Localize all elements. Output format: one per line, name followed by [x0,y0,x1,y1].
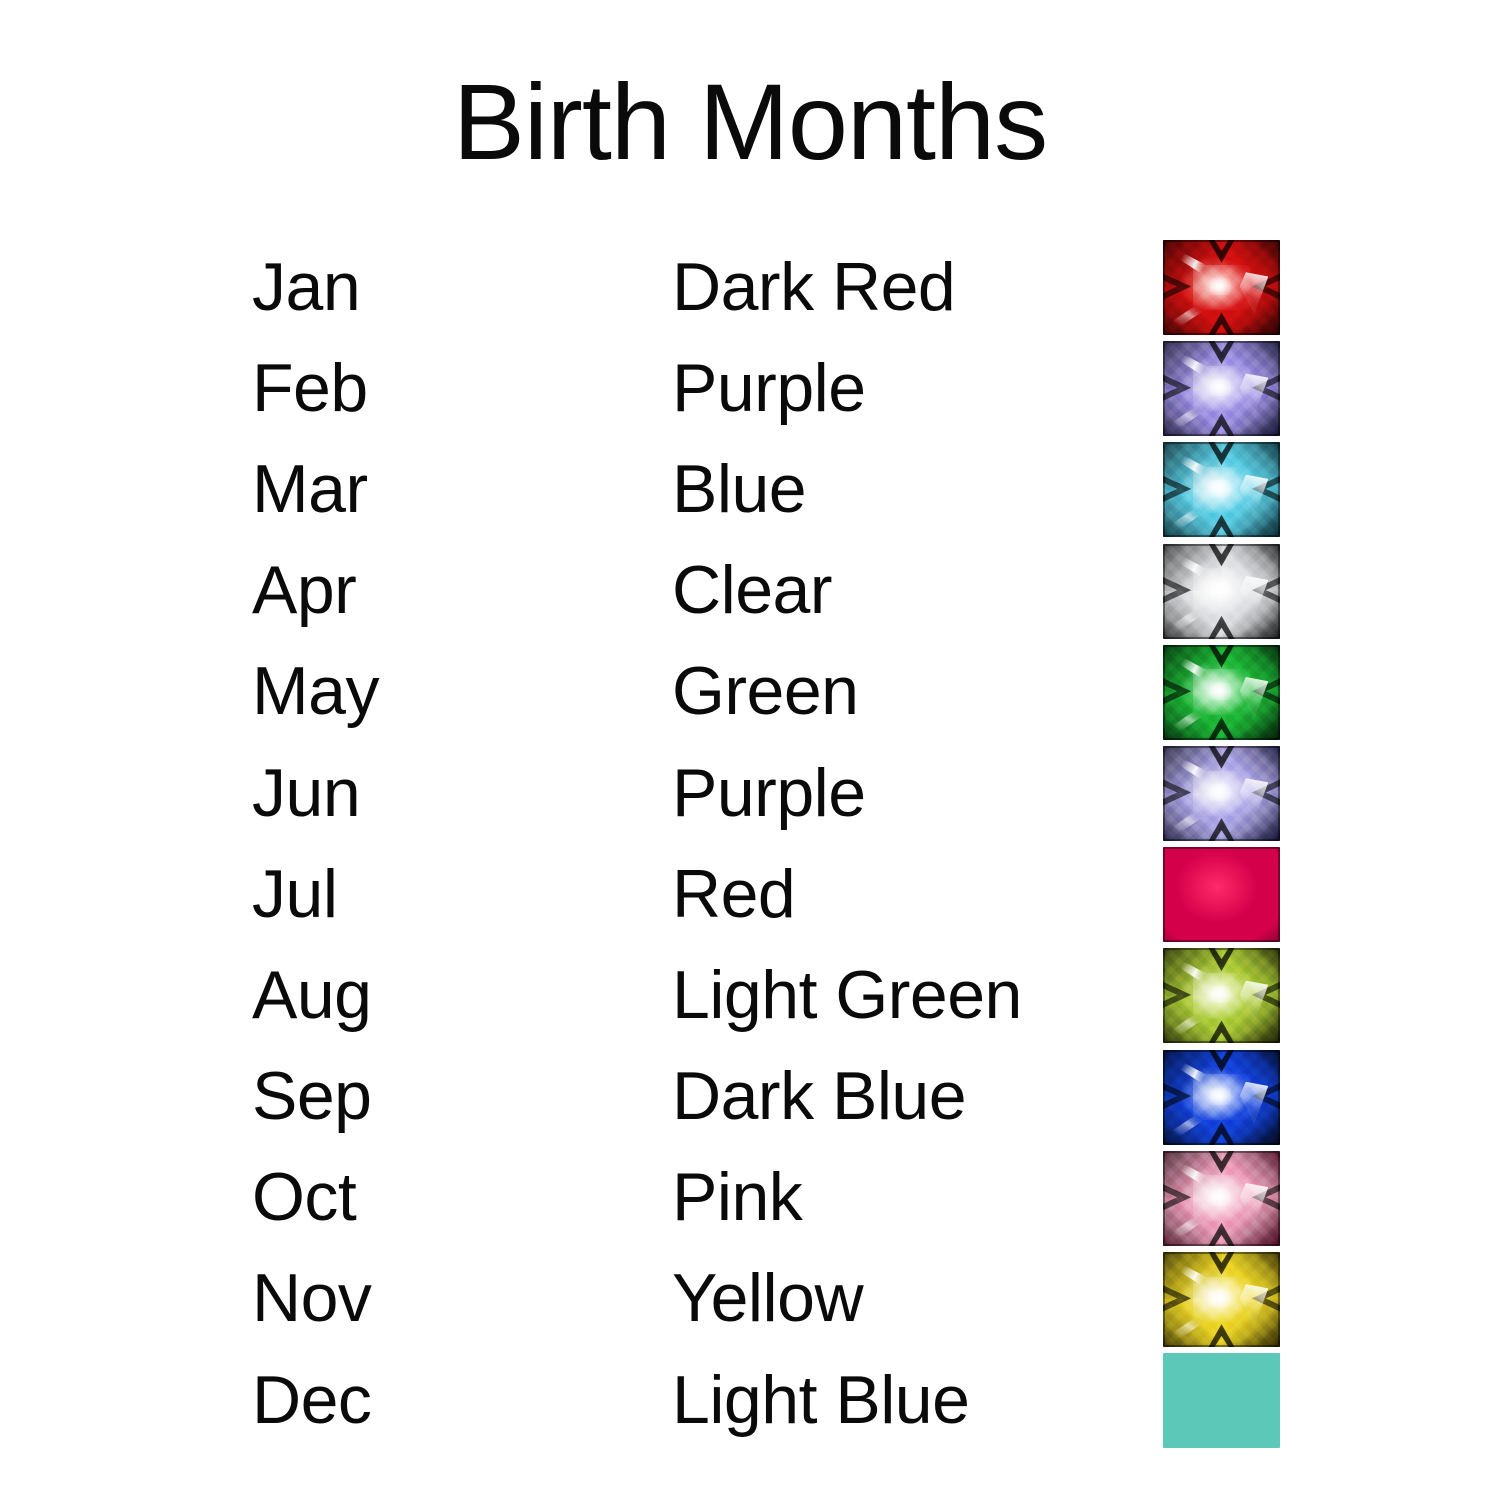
color-label: Dark Red [672,236,955,337]
color-label: Yellow [672,1248,863,1349]
peridot-gem [1163,948,1280,1043]
birth-months-table: JanDark RedFebPurpleMarBlueAprClearMayGr… [0,236,1500,1450]
table-row: SepDark Blue [0,1046,1500,1147]
gemstone-swatch [1163,1151,1280,1246]
table-row: AprClear [0,540,1500,641]
month-label: Oct [252,1147,356,1248]
tourmaline-gem [1163,1151,1280,1246]
table-row: OctPink [0,1147,1500,1248]
table-row: DecLight Blue [0,1349,1500,1450]
color-label: Purple [672,742,866,843]
color-label: Purple [672,337,866,438]
birth-months-page: Birth Months JanDark RedFebPurpleMarBlue… [0,0,1500,1500]
gemstone-swatch [1163,341,1280,436]
table-row: FebPurple [0,337,1500,438]
gemstone-swatch [1163,1050,1280,1145]
month-label: Apr [252,540,356,641]
color-label: Light Blue [672,1349,969,1450]
alexandrite-gem [1163,746,1280,841]
gemstone-swatch [1163,645,1280,740]
table-row: JunPurple [0,742,1500,843]
month-label: Jun [252,742,360,843]
amethyst-gem [1163,341,1280,436]
citrine-gem [1163,1252,1280,1347]
gemstone-swatch [1163,1353,1280,1448]
color-label: Clear [672,540,832,641]
gemstone-swatch [1163,442,1280,537]
month-label: Jul [252,843,337,944]
color-label: Light Green [672,944,1022,1045]
diamond-gem [1163,544,1280,639]
garnet-gem [1163,240,1280,335]
gemstone-swatch [1163,847,1280,942]
month-label: Nov [252,1248,371,1349]
month-label: Dec [252,1349,371,1450]
gemstone-swatch [1163,240,1280,335]
table-row: JanDark Red [0,236,1500,337]
table-row: NovYellow [0,1248,1500,1349]
table-row: AugLight Green [0,944,1500,1045]
month-label: Aug [252,944,372,1045]
color-label: Green [672,641,859,742]
table-row: MayGreen [0,641,1500,742]
gemstone-swatch [1163,1252,1280,1347]
month-label: Sep [252,1046,372,1147]
month-label: Jan [252,236,360,337]
table-row: JulRed [0,843,1500,944]
color-label: Dark Blue [672,1046,966,1147]
ruby-gem [1163,847,1280,942]
gemstone-swatch [1163,544,1280,639]
color-label: Red [672,843,795,944]
turquoise-gem [1163,1353,1280,1448]
color-label: Blue [672,438,806,539]
sapphire-gem [1163,1050,1280,1145]
gemstone-swatch [1163,948,1280,1043]
color-label: Pink [672,1147,802,1248]
month-label: Feb [252,337,368,438]
gemstone-swatch [1163,746,1280,841]
month-label: May [252,641,379,742]
emerald-gem [1163,645,1280,740]
aquamarine-gem [1163,442,1280,537]
month-label: Mar [252,438,368,539]
table-row: MarBlue [0,438,1500,539]
page-title: Birth Months [0,62,1500,182]
